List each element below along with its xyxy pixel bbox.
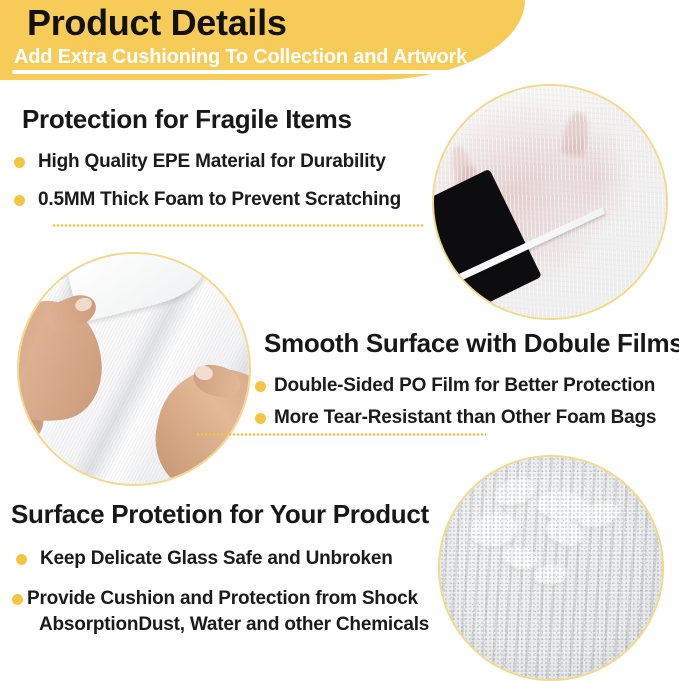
section-2-bullet-1: Double-Sided PO Film for Better Protecti…	[255, 373, 679, 399]
section-1-heading: Protection for Fragile Items	[22, 103, 440, 135]
bullet-dot-icon	[16, 554, 27, 565]
section-2-bullet-1-text: Double-Sided PO Film for Better Protecti…	[274, 373, 655, 399]
section-3-bullet-2: Provide Cushion and Protection from Shoc…	[12, 586, 440, 638]
section-3-heading: Surface Protetion for Your Product	[11, 498, 440, 530]
section-3-bullet-2-line-2: AbsorptionDust, Water and other Chemical…	[39, 612, 429, 638]
section-protection-for-fragile-items: Protection for Fragile Items High Qualit…	[0, 103, 440, 213]
photo-hand-behind-translucent-foam-sheet	[432, 84, 668, 320]
photo-hands-holding-white-foam-sheet	[17, 252, 251, 486]
section-2-bullet-2-text: More Tear-Resistant than Other Foam Bags	[274, 405, 656, 431]
page-title: Product Details	[27, 2, 287, 44]
bullet-dot-icon	[255, 413, 266, 424]
photo-1-content	[434, 86, 666, 318]
section-3-bullet-1-text: Keep Delicate Glass Safe and Unbroken	[40, 546, 393, 572]
photo-3-content	[440, 457, 662, 679]
section-divider-1	[52, 224, 424, 227]
section-1-bullet-1: High Quality EPE Material for Durability	[14, 149, 440, 175]
section-surface-protetion-for-your-product: Surface Protetion for Your Product Keep …	[0, 498, 440, 638]
section-2-bullet-2: More Tear-Resistant than Other Foam Bags	[255, 405, 679, 431]
bullet-dot-icon	[12, 594, 23, 605]
section-1-bullet-2-text: 0.5MM Thick Foam to Prevent Scratching	[38, 187, 401, 213]
section-smooth-surface-with-dobule-films: Smooth Surface with Dobule Films Double-…	[255, 327, 679, 431]
product-details-infographic: Product Details Add Extra Cushioning To …	[0, 0, 679, 681]
section-1-bullet-1-text: High Quality EPE Material for Durability	[38, 149, 386, 175]
photo-3-vignette	[440, 457, 662, 679]
section-3-bullet-2-line-1: Provide Cushion and Protection from Shoc…	[27, 588, 418, 609]
bullet-dot-icon	[14, 157, 25, 168]
section-1-bullet-2: 0.5MM Thick Foam to Prevent Scratching	[14, 187, 440, 213]
section-3-bullet-1: Keep Delicate Glass Safe and Unbroken	[16, 546, 440, 572]
subtitle-underline	[12, 70, 514, 74]
bullet-dot-icon	[14, 195, 25, 206]
photo-2-content	[19, 254, 249, 484]
section-3-bullet-2-text: Provide Cushion and Protection from Shoc…	[27, 586, 429, 638]
section-divider-2	[196, 433, 486, 436]
section-2-heading: Smooth Surface with Dobule Films	[264, 327, 679, 359]
photo-textured-foam-surface-closeup	[438, 455, 664, 681]
page-subtitle: Add Extra Cushioning To Collection and A…	[14, 45, 467, 69]
bullet-dot-icon	[255, 381, 266, 392]
